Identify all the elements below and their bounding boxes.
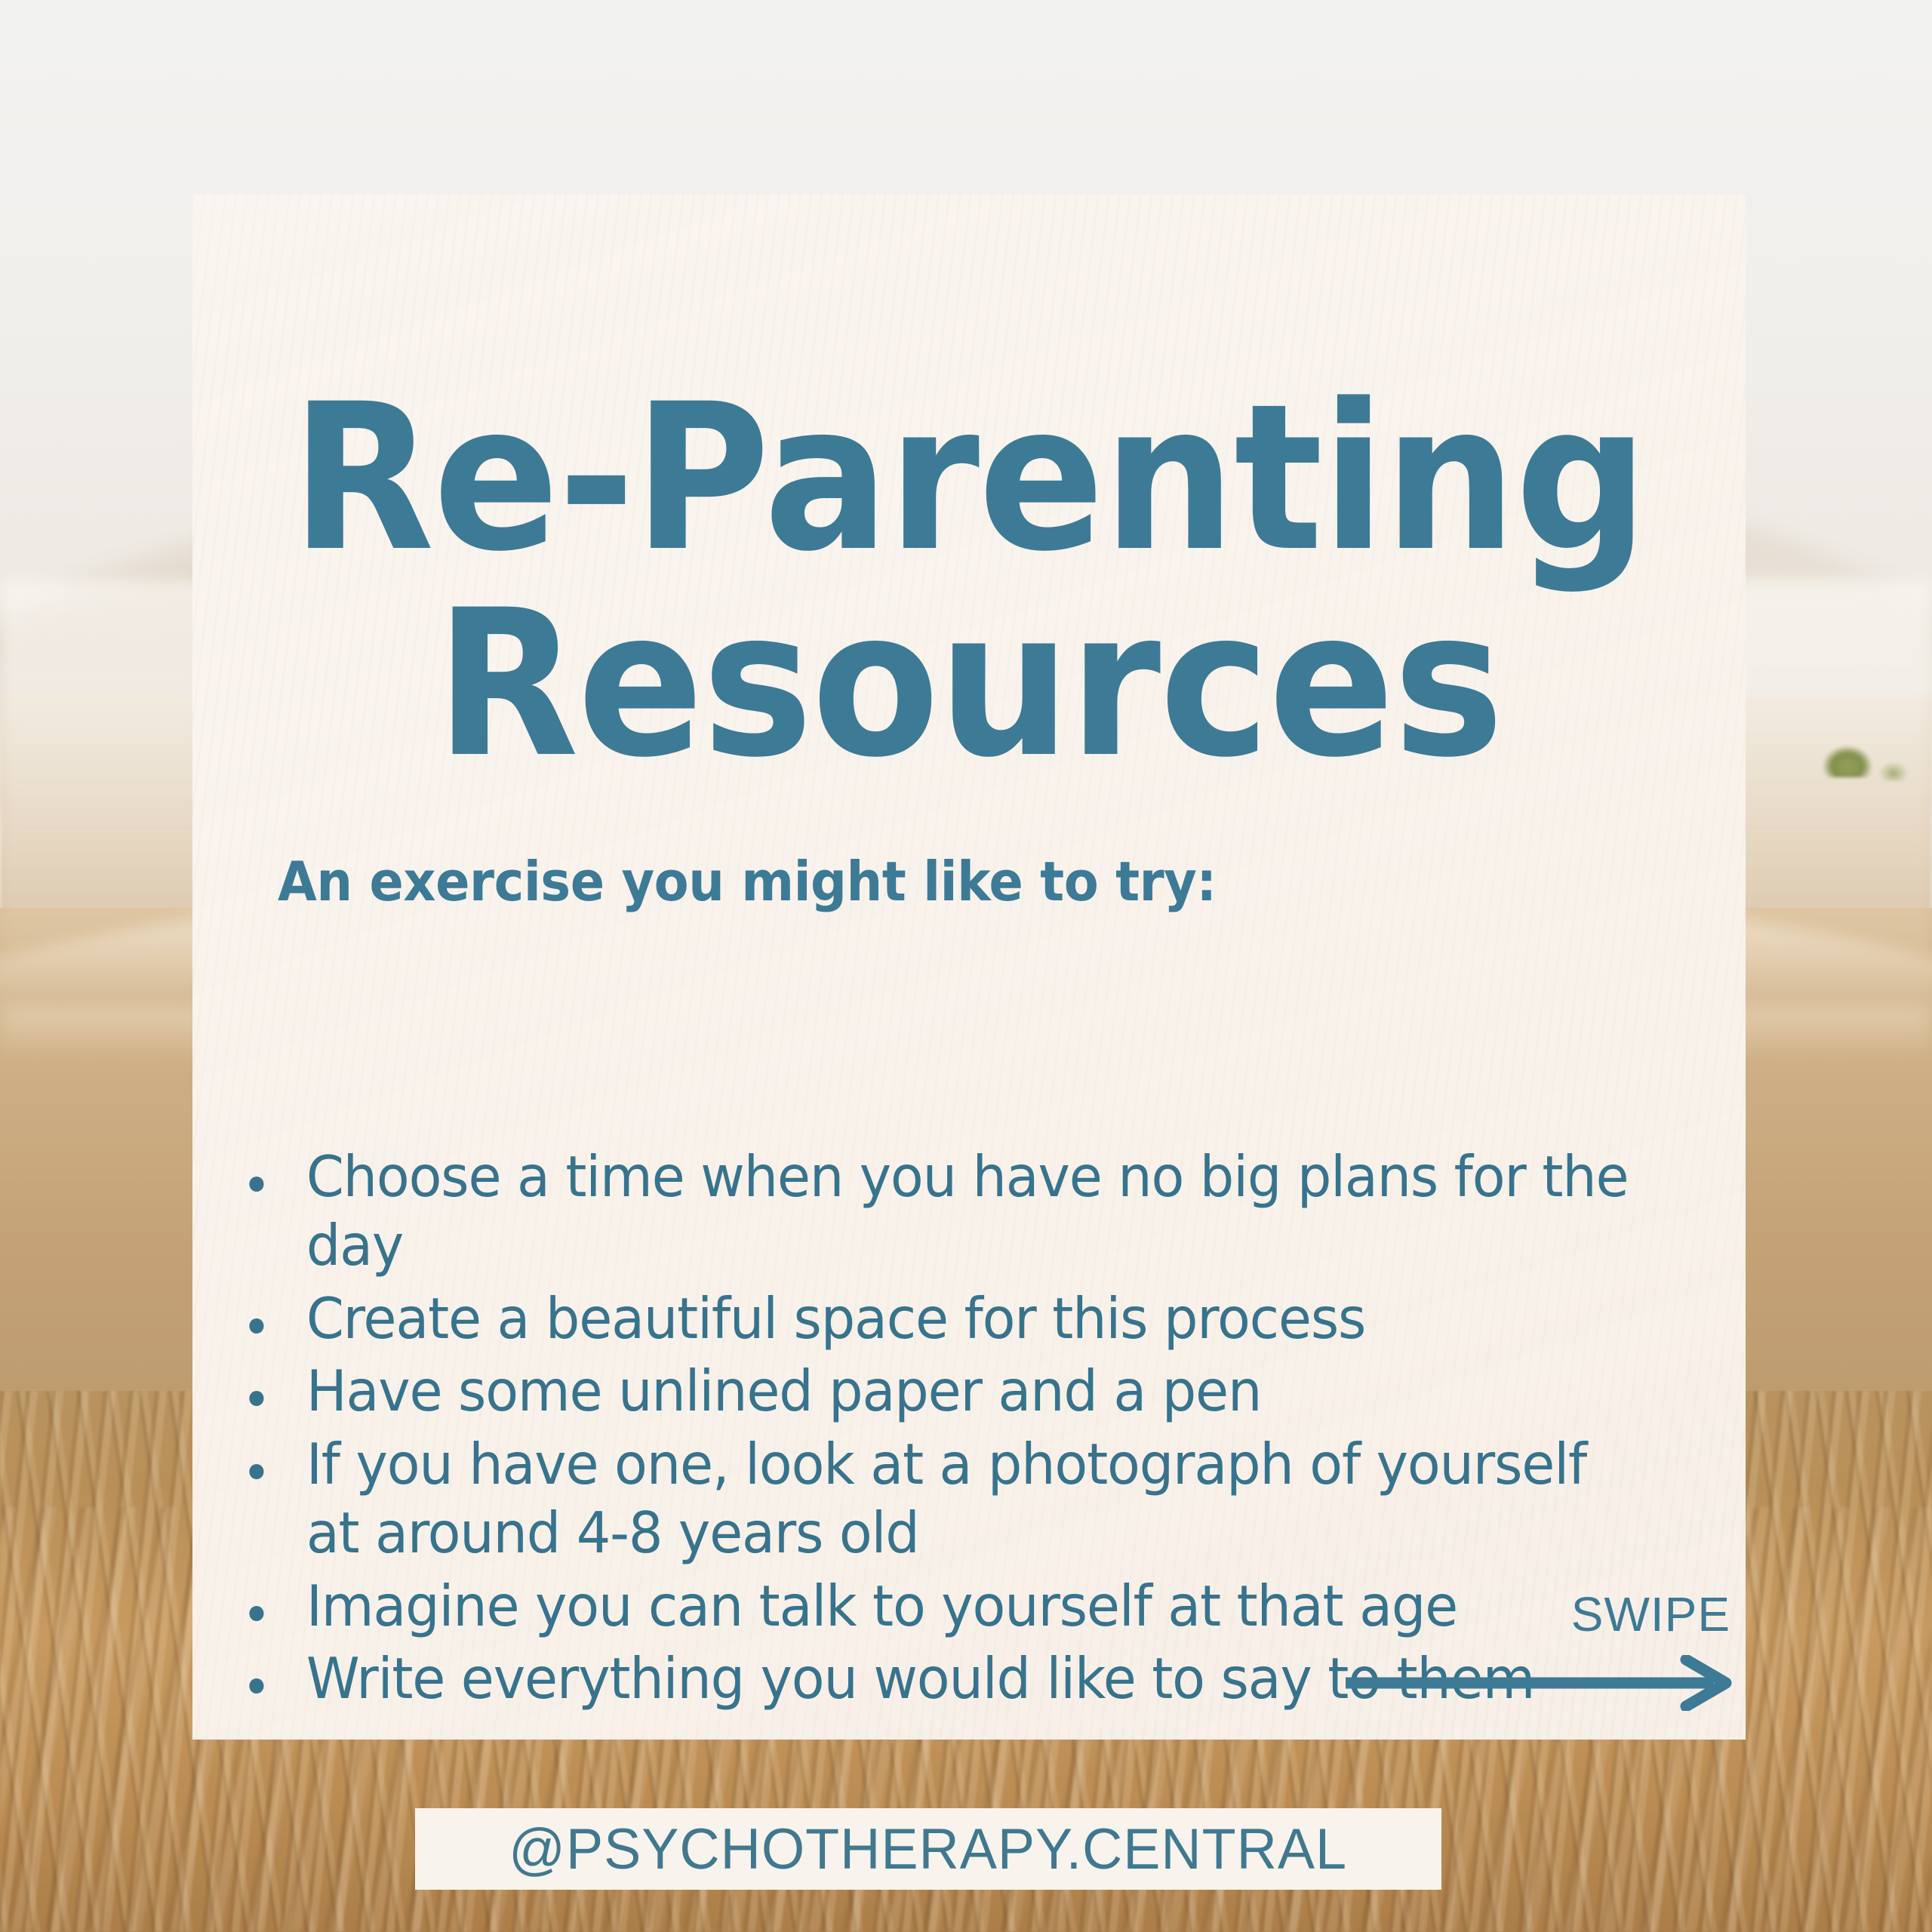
title-line-2: Resources (282, 582, 1656, 788)
swipe-label: SWIPE (1343, 1590, 1735, 1638)
account-handle-bar: @PSYCHOTHERAPY.CENTRAL (415, 1808, 1441, 1890)
list-item: Choose a time when you have no big plans… (239, 1143, 1630, 1280)
desert-shrub-small (1878, 761, 1909, 781)
account-handle: @PSYCHOTHERAPY.CENTRAL (509, 1817, 1348, 1882)
swipe-cta[interactable]: SWIPE (1343, 1590, 1735, 1711)
content-card: Re-ParentingResources An exercise you mi… (192, 195, 1746, 1740)
poster-canvas: Re-ParentingResources An exercise you mi… (0, 0, 1932, 1932)
list-item: Create a beautiful space for this proces… (239, 1284, 1630, 1353)
page-title: Re-ParentingResources (254, 376, 1683, 789)
title-line-1: Re-Parenting (291, 361, 1647, 596)
desert-shrub (1823, 746, 1872, 777)
list-item: Have some unlined paper and a pen (239, 1357, 1630, 1426)
arrow-right-icon (1343, 1655, 1735, 1711)
list-item: If you have one, look at a photograph of… (239, 1430, 1630, 1567)
subtitle: An exercise you might like to try: (278, 850, 1217, 913)
